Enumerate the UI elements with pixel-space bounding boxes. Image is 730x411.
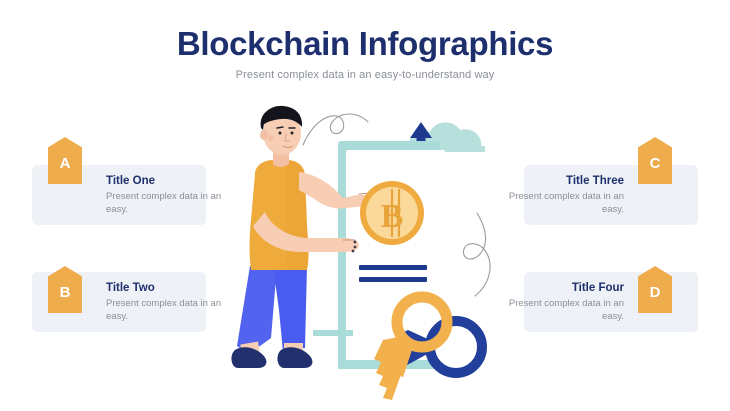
teal-baseline: [313, 330, 353, 336]
squiggle-top-decoration: [303, 114, 368, 145]
card-c-text: Title Three Present complex data in an e…: [506, 174, 624, 217]
page-subtitle: Present complex data in an easy-to-under…: [0, 69, 730, 81]
card-b-text: Title Two Present complex data in an eas…: [106, 281, 224, 324]
card-d-body: Present complex data in an easy.: [506, 298, 624, 324]
blockchain-illustration: B: [225, 100, 515, 411]
badge-b-letter: B: [60, 285, 71, 313]
squiggle-right-decoration: [463, 213, 490, 296]
card-c-title: Title Three: [506, 174, 624, 188]
card-a-title: Title One: [106, 174, 224, 188]
infographic-slide: Blockchain Infographics Present complex …: [0, 0, 730, 411]
badge-a[interactable]: A: [48, 137, 82, 184]
card-b-body: Present complex data in an easy.: [106, 298, 224, 324]
badge-c[interactable]: C: [638, 137, 672, 184]
page-title: Blockchain Infographics: [0, 26, 730, 63]
card-b-title: Title Two: [106, 281, 224, 295]
card-c-body: Present complex data in an easy.: [506, 191, 624, 217]
card-d-title: Title Four: [506, 281, 624, 295]
badge-c-letter: C: [650, 156, 661, 184]
card-a-body: Present complex data in an easy.: [106, 191, 224, 217]
card-d-text: Title Four Present complex data in an ea…: [506, 281, 624, 324]
badge-d-letter: D: [650, 285, 661, 313]
badge-a-letter: A: [60, 156, 71, 184]
card-a-text: Title One Present complex data in an eas…: [106, 174, 224, 217]
header: Blockchain Infographics Present complex …: [0, 26, 730, 81]
bitcoin-coin-icon: B: [360, 181, 424, 245]
